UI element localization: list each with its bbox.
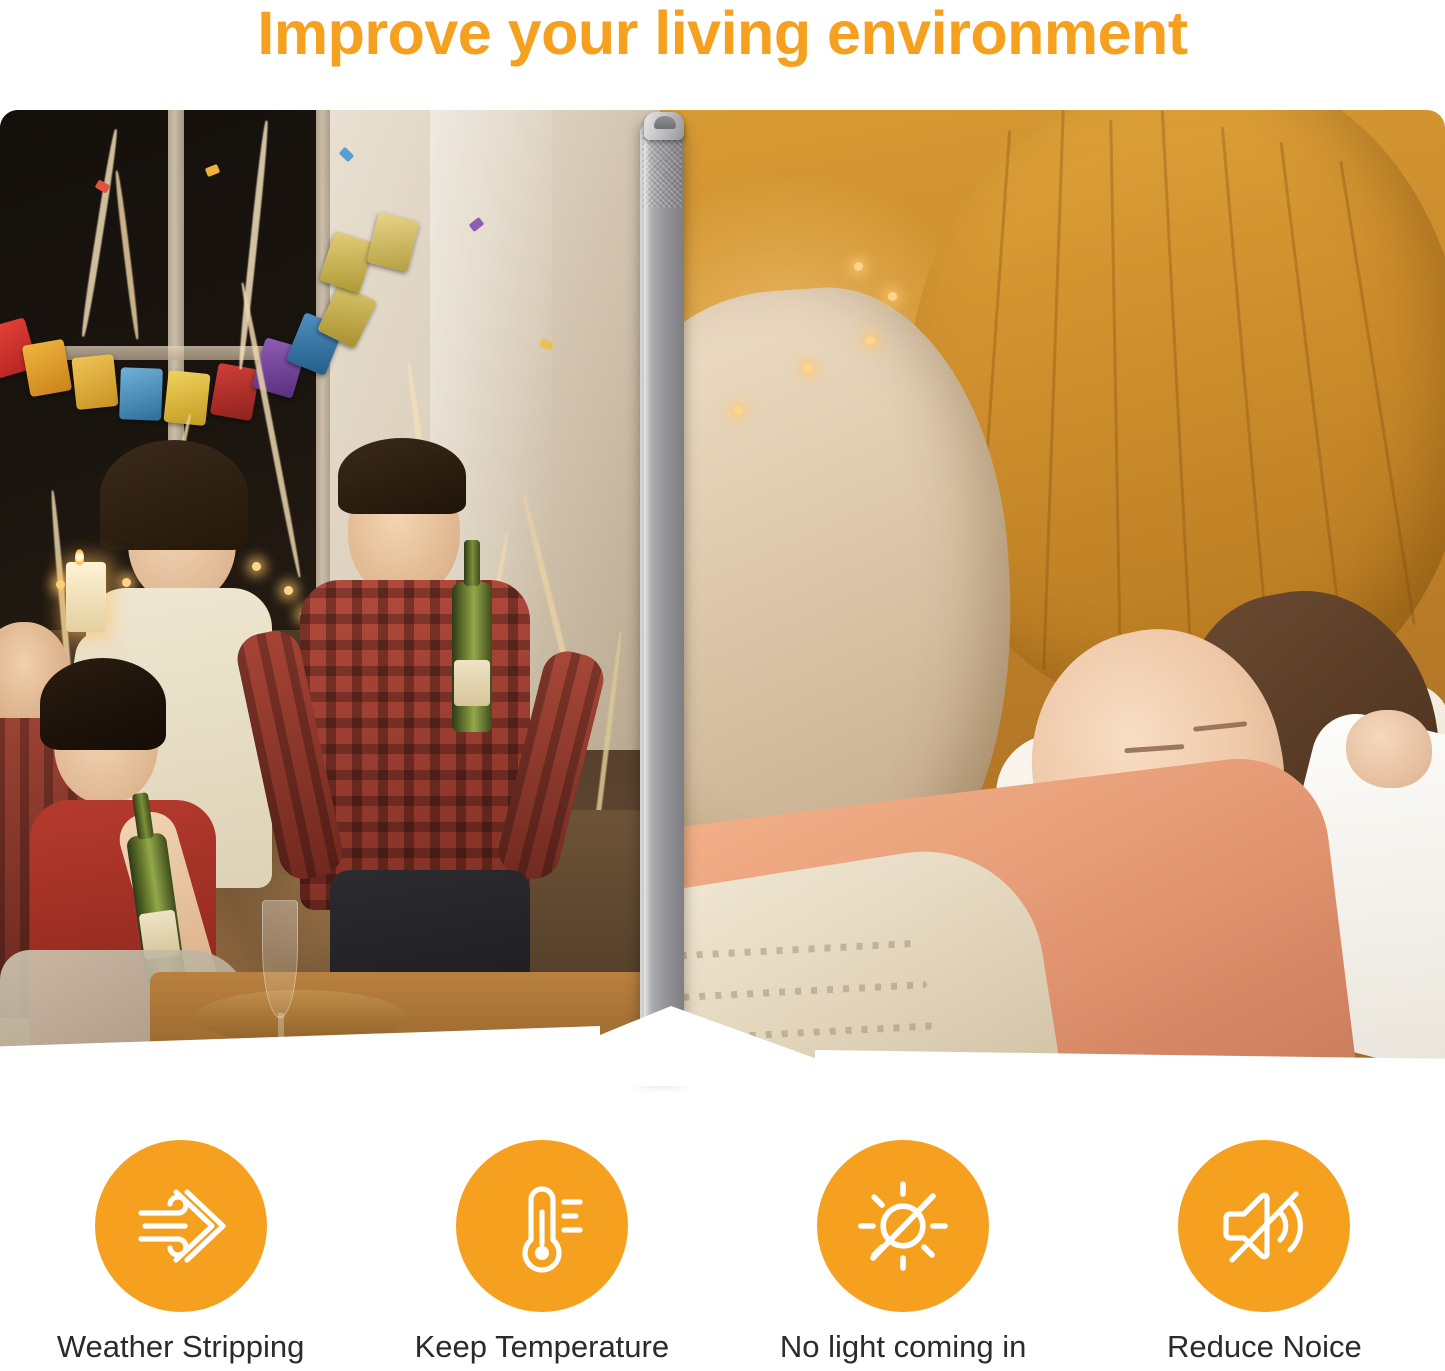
page-title: Improve your living environment (0, 0, 1445, 68)
hero-comparison-panel (0, 110, 1445, 1080)
thermometer-icon-badge (456, 1140, 628, 1312)
feature-label: Weather Stripping (57, 1328, 305, 1366)
fairy-lights (780, 150, 1080, 360)
feature-item-keep-temperature: Keep Temperature (361, 1140, 722, 1371)
feature-label: Reduce Noice (1167, 1328, 1362, 1366)
feature-item-reduce-noise: Reduce Noice (1084, 1140, 1445, 1371)
door-seal-strip (638, 110, 686, 1080)
speaker-mute-icon (1212, 1174, 1316, 1278)
wind-arrow-icon-badge (95, 1140, 267, 1312)
feature-item-weather-stripping: Weather Stripping (0, 1140, 361, 1371)
sun-slash-icon (851, 1174, 955, 1278)
feature-list: Weather Stripping Keep Temperature (0, 1140, 1445, 1371)
feature-item-no-light: No light coming in (723, 1140, 1084, 1371)
sleeping-child-photo (660, 110, 1445, 1080)
feature-label: No light coming in (780, 1328, 1026, 1366)
thermometer-icon (490, 1174, 594, 1278)
new-year-party-photo (0, 110, 660, 1080)
product-feature-banner: Improve your living environment (0, 0, 1445, 1371)
feature-label: Keep Temperature (415, 1328, 669, 1366)
sun-slash-icon-badge (817, 1140, 989, 1312)
speaker-mute-icon-badge (1178, 1140, 1350, 1312)
wind-arrow-icon (129, 1174, 233, 1278)
